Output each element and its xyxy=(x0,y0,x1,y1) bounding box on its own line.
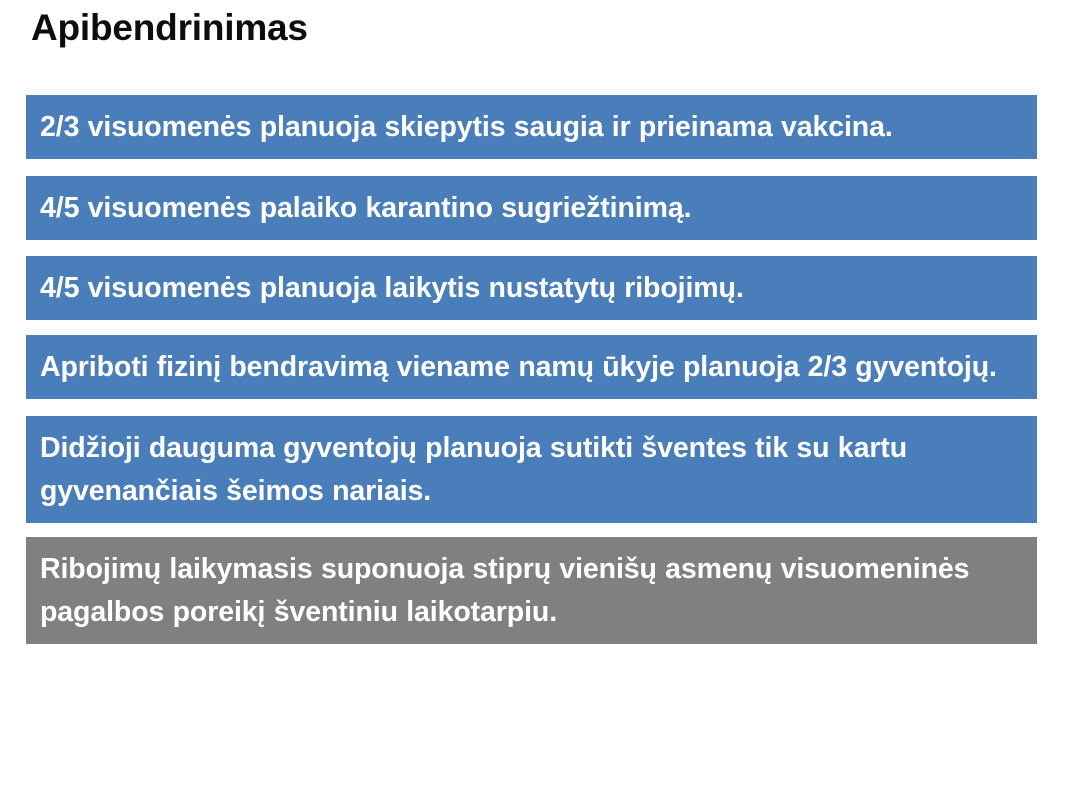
summary-statement-vaccination: 2/3 visuomenės planuoja skiepytis saugia… xyxy=(26,95,1037,159)
summary-statement-quarantine-support: 4/5 visuomenės palaiko karantino sugriež… xyxy=(26,176,1037,240)
block-gap xyxy=(26,240,1037,256)
summary-statement-household-contact-limit: Apriboti fizinį bendravimą viename namų … xyxy=(26,335,1037,399)
slide: Apibendrinimas 2/3 visuomenės planuoja s… xyxy=(0,0,1075,800)
summary-statement-restrictions-compliance: 4/5 visuomenės planuoja laikytis nustaty… xyxy=(26,256,1037,320)
summary-statement-holidays-with-family: Didžioji dauguma gyventojų planuoja suti… xyxy=(26,416,1037,523)
page-title: Apibendrinimas xyxy=(31,6,308,50)
summary-statement-list: 2/3 visuomenės planuoja skiepytis saugia… xyxy=(26,95,1037,644)
summary-statement-lonely-persons-support: Ribojimų laikymasis suponuoja stiprų vie… xyxy=(26,537,1037,644)
block-gap xyxy=(26,399,1037,416)
block-gap xyxy=(26,159,1037,176)
block-gap xyxy=(26,523,1037,537)
block-gap xyxy=(26,320,1037,335)
